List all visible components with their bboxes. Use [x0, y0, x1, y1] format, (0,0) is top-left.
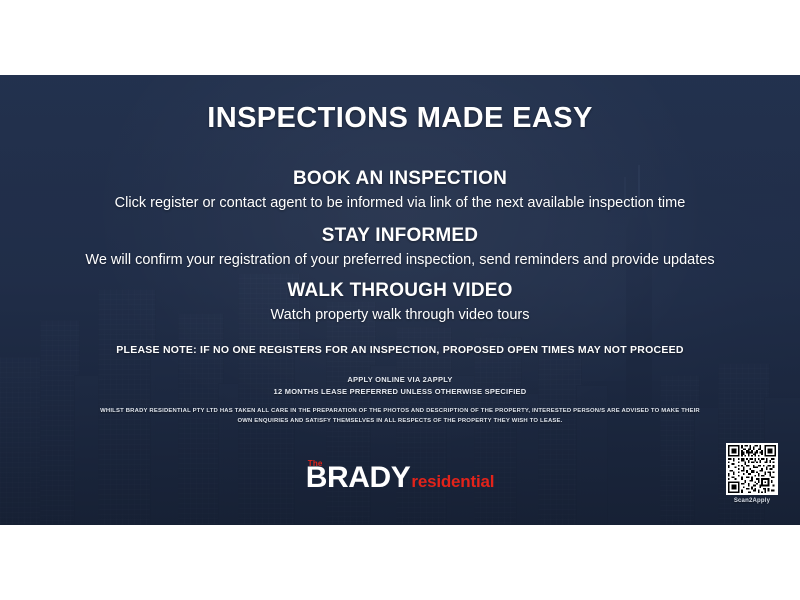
disclaimer-text: WHILST BRADY RESIDENTIAL PTY LTD HAS TAK…	[50, 406, 750, 427]
section-walk-through-video: WALK THROUGH VIDEO Watch property walk t…	[0, 279, 800, 325]
poster-canvas: INSPECTIONS MADE EASY BOOK AN INSPECTION…	[0, 0, 800, 600]
qr-label: Scan2Apply	[722, 498, 782, 504]
disclaimer-line-2: OWN ENQUIRIES AND SATISFY THEMSELVES IN …	[50, 416, 750, 426]
qr-code-icon[interactable]	[726, 443, 778, 495]
hero-panel: INSPECTIONS MADE EASY BOOK AN INSPECTION…	[0, 75, 800, 525]
section-subtext: Watch property walk through video tours	[0, 306, 800, 326]
logo-the-label: The	[308, 460, 323, 468]
section-subtext: We will confirm your registration of you…	[0, 251, 800, 271]
please-note-text: PLEASE NOTE: IF NO ONE REGISTERS FOR AN …	[0, 344, 800, 356]
scan2apply-qr-block[interactable]: Scan2Apply	[722, 443, 782, 504]
poster-content: INSPECTIONS MADE EASY BOOK AN INSPECTION…	[0, 75, 800, 525]
brady-residential-logo: The BRADYresidential	[0, 461, 800, 501]
logo-suffix-text: residential	[411, 472, 494, 492]
section-subtext: Click register or contact agent to be in…	[0, 194, 800, 214]
section-stay-informed: STAY INFORMED We will confirm your regis…	[0, 224, 800, 270]
section-book-an-inspection: BOOK AN INSPECTION Click register or con…	[0, 167, 800, 213]
page-title: INSPECTIONS MADE EASY	[0, 102, 800, 135]
apply-online-line: APPLY ONLINE VIA 2APPLY	[0, 374, 800, 386]
section-heading: STAY INFORMED	[0, 224, 800, 248]
section-heading: BOOK AN INSPECTION	[0, 167, 800, 191]
lease-term-line: 12 MONTHS LEASE PREFERRED UNLESS OTHERWI…	[0, 386, 800, 398]
apply-info: APPLY ONLINE VIA 2APPLY 12 MONTHS LEASE …	[0, 374, 800, 397]
disclaimer-line-1: WHILST BRADY RESIDENTIAL PTY LTD HAS TAK…	[50, 406, 750, 416]
section-heading: WALK THROUGH VIDEO	[0, 279, 800, 303]
logo-lockup: The BRADYresidential	[306, 461, 495, 501]
